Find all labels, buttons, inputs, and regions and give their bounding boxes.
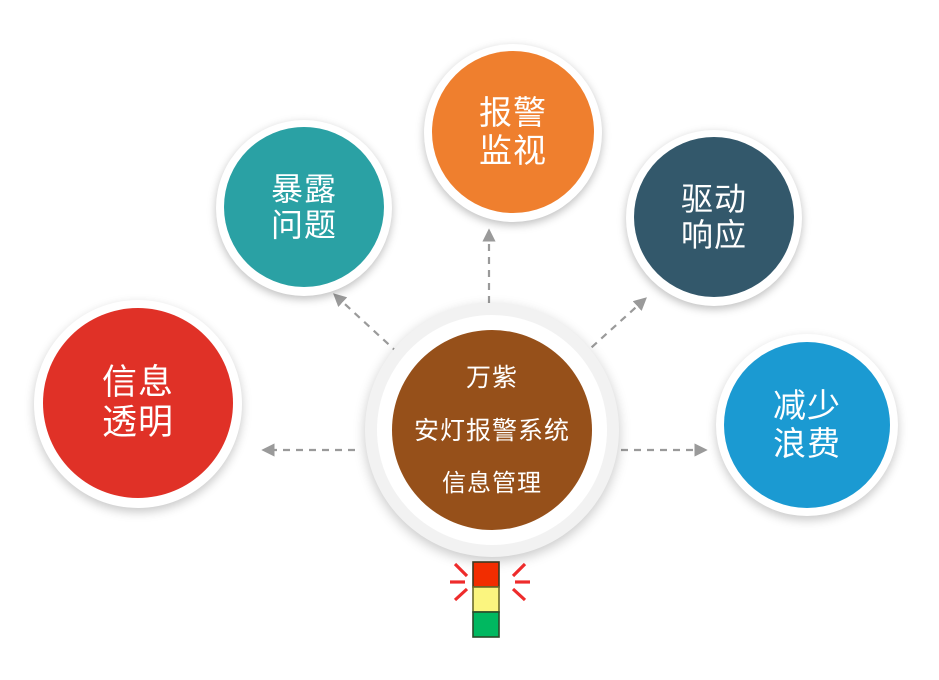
information-transparency-line-2: 透明 — [102, 403, 174, 443]
node-reduce-waste[interactable]: 减少 浪费 — [724, 342, 890, 508]
andon-flash-rays-right — [513, 564, 530, 600]
node-information-transparency[interactable]: 信息 透明 — [43, 308, 233, 498]
drive-response-line-2: 响应 — [681, 217, 747, 253]
reduce-waste-line-2: 浪费 — [773, 425, 841, 463]
andon-light-tower-icon — [440, 548, 540, 648]
connector-up-right — [582, 299, 645, 356]
node-center-hub[interactable]: 万紫 安灯报警系统 信息管理 — [392, 330, 592, 530]
node-expose-problem[interactable]: 暴露 问题 — [224, 127, 384, 287]
center-hub-line-2: 安灯报警系统 — [414, 417, 570, 446]
expose-problem-line-2: 问题 — [271, 207, 337, 243]
alarm-monitor-line-2: 监视 — [479, 132, 547, 170]
information-transparency-line-1: 信息 — [102, 363, 174, 403]
andon-flash-rays-left — [450, 564, 467, 600]
alarm-monitor-line-1: 报警 — [479, 94, 547, 132]
expose-problem-line-1: 暴露 — [271, 171, 337, 207]
reduce-waste-line-1: 减少 — [773, 387, 841, 425]
center-hub-line-1: 万紫 — [466, 364, 518, 393]
connector-up-left — [335, 295, 398, 353]
andon-lamp-red — [473, 562, 499, 587]
center-hub-line-3: 信息管理 — [442, 470, 542, 497]
diagram-canvas: 报警 监视 暴露 问题 驱动 响应 信息 透明 减少 浪费 万紫 安灯报警系统 … — [0, 0, 939, 680]
node-drive-response[interactable]: 驱动 响应 — [634, 137, 794, 297]
node-alarm-monitor[interactable]: 报警 监视 — [432, 51, 594, 213]
drive-response-line-1: 驱动 — [681, 181, 747, 217]
andon-lamp-yellow — [473, 587, 499, 612]
andon-lamp-green — [473, 612, 499, 637]
